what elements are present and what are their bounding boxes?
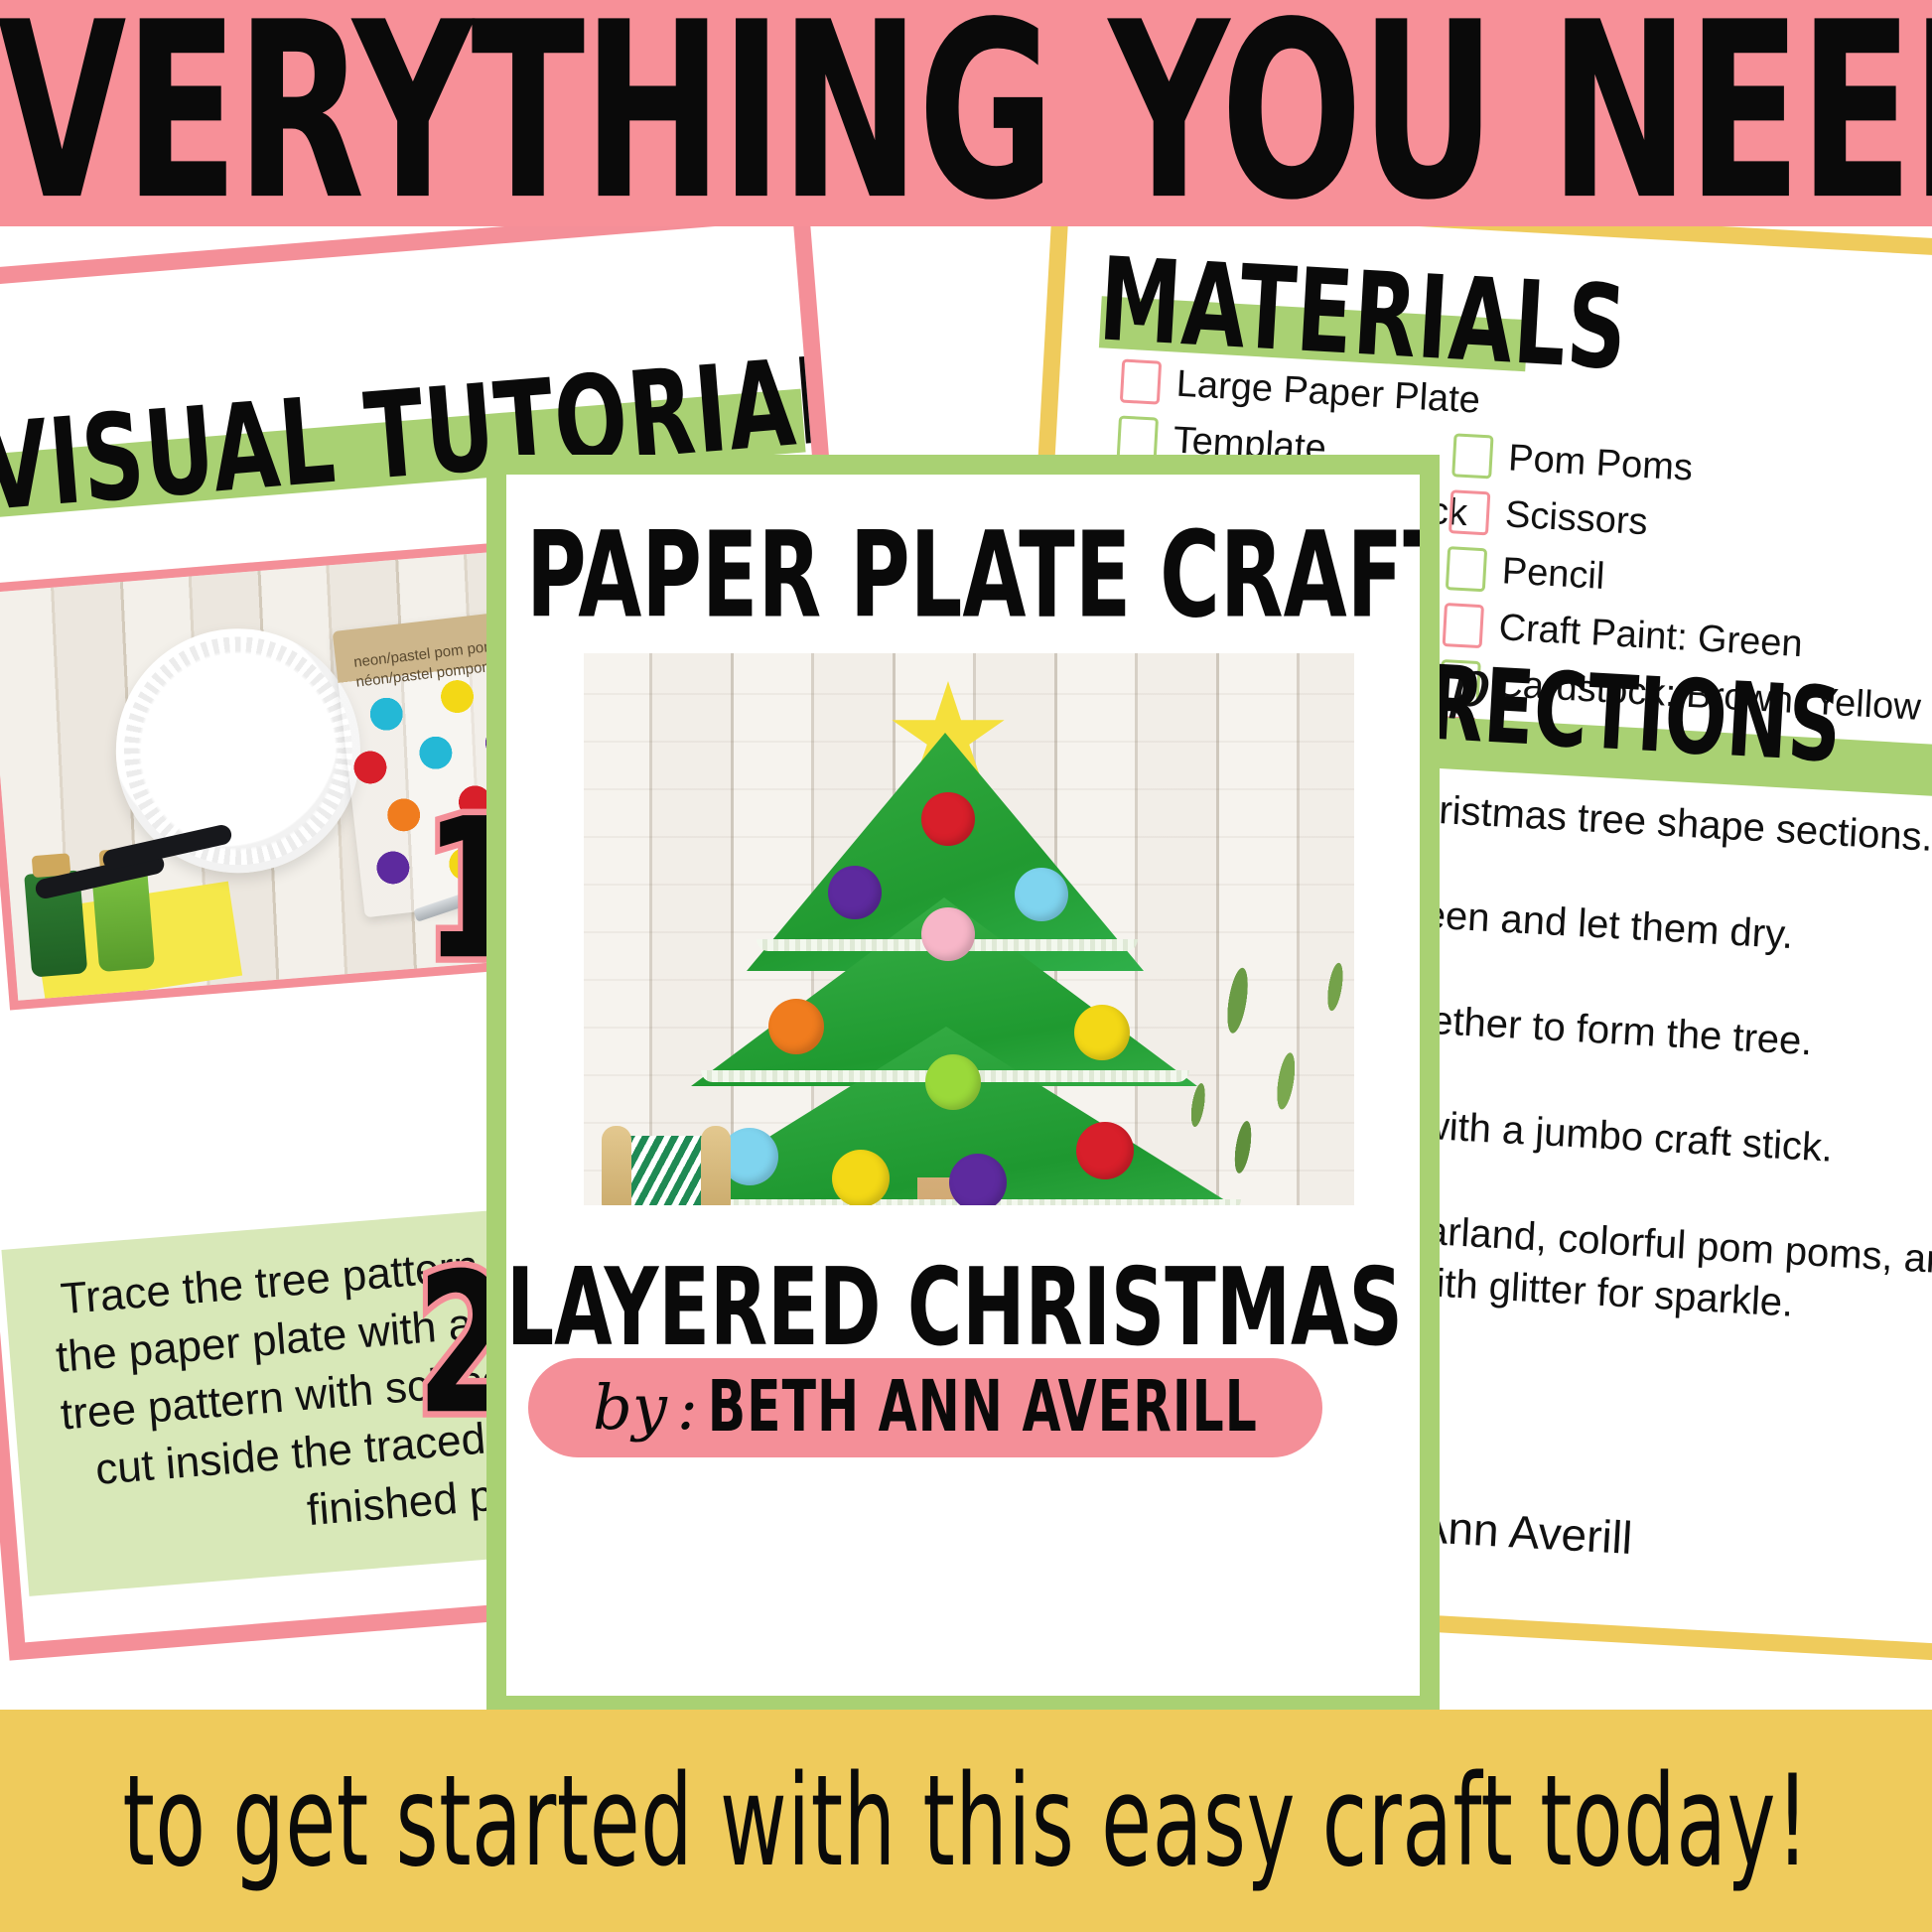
byline-separator: : [677,1371,698,1444]
pom-pom [768,999,824,1054]
twine-spool [602,1126,731,1217]
tinsel-garland-bottom [651,1199,1241,1211]
spool-disc-right [701,1126,731,1217]
pine-greenery [1150,906,1366,1217]
byline-author-name: BETH ANN AVERILL [708,1365,1258,1448]
christmas-tree-craft [572,641,1366,1217]
checkbox-icon[interactable] [1120,359,1162,405]
pom-pom [921,792,975,846]
pom-pom [828,866,882,919]
headline-text: EVERYTHING YOU NEED [0,9,1932,218]
checkbox-icon[interactable] [1449,489,1490,535]
material-label: Pom Poms [1507,437,1694,489]
cover-subtitle: LAYERED CHRISTMAS TREE [506,1245,1420,1369]
pom-pom [925,1054,981,1110]
material-label: Pencil [1501,550,1606,599]
pom-pom [1015,868,1068,921]
pom-pom [1074,1005,1130,1060]
top-banner: EVERYTHING YOU NEED [0,0,1932,226]
checkbox-icon[interactable] [1446,546,1487,592]
cta-text: to get started with this easy craft toda… [122,1747,1809,1894]
pom-pom [1076,1122,1134,1179]
byline-script-word: by [593,1371,667,1444]
checkbox-icon[interactable] [1451,433,1493,479]
collage-stage: VISUAL TUTORIAL 72 neon/pastel pom poms … [0,226,1932,1710]
spool-disc-left [602,1126,631,1217]
pom-pom [832,1150,890,1207]
pom-pom [949,1154,1007,1211]
green-twine [627,1136,707,1207]
cover-card[interactable]: PAPER PLATE CRAFT [486,455,1440,1710]
finished-craft-photo [572,641,1366,1217]
bottom-banner: to get started with this easy craft toda… [0,1710,1932,1932]
pom-pom [921,907,975,961]
byline: by : BETH ANN AVERILL [528,1356,1322,1457]
cover-title: PAPER PLATE CRAFT [526,506,1440,644]
material-label: Scissors [1504,493,1649,544]
checkbox-icon[interactable] [1443,603,1484,648]
